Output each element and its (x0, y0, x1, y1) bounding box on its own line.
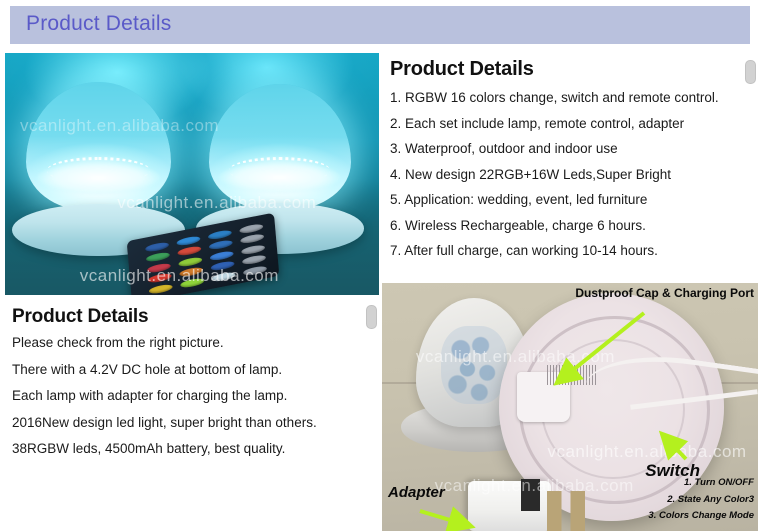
remote-button-6 (209, 239, 233, 251)
description-line: Please check from the right picture. (12, 336, 363, 350)
remote-button-8 (147, 262, 171, 274)
feature-line: 7. After full charge, can working 10-14 … (390, 244, 740, 258)
remote-button-0 (145, 241, 169, 253)
feature-line: 2. Each set include lamp, remote control… (390, 117, 740, 131)
product-details-page: Product Details vcanlight.en.alibaba.com… (0, 0, 758, 531)
left-panel-scrollbar-thumb[interactable] (366, 305, 377, 329)
right-panel-content: Product Details 1. RGBW 16 colors change… (382, 48, 758, 278)
remote-button-16 (149, 283, 173, 295)
remote-button-19 (243, 265, 267, 277)
adapter-prongs (547, 491, 585, 531)
feature-line: 1. RGBW 16 colors change, switch and rem… (390, 91, 740, 105)
feature-line: 5. Application: wedding, event, led furn… (390, 193, 740, 207)
remote-button-17 (180, 277, 204, 289)
remote-button-1 (177, 235, 201, 247)
lamp-glow-band (37, 162, 161, 193)
annotation-dustproof-cap: Dustproof Cap & Charging Port (575, 286, 754, 300)
switch-step: 3. Colors Change Mode (648, 508, 754, 525)
feature-line: 4. New design 22RGB+16W Leds,Super Brigh… (390, 168, 740, 182)
right-panel-scrollbar-thumb[interactable] (745, 60, 756, 84)
led-cluster (441, 326, 506, 403)
feature-line: 6. Wireless Rechargeable, charge 6 hours… (390, 219, 740, 233)
product-photo-base-annotated[interactable]: vcanlight.en.alibaba.com vcanlight.en.al… (382, 283, 758, 531)
description-line: There with a 4.2V DC hole at bottom of l… (12, 363, 363, 377)
description-line: 38RGBW leds, 4500mAh battery, best quali… (12, 442, 363, 456)
description-line: Each lamp with adapter for charging the … (12, 389, 363, 403)
remote-button-13 (179, 267, 203, 279)
page-title: Product Details (26, 12, 171, 36)
lamp-glow-band (219, 162, 340, 192)
left-panel-content: Product Details Please check from the ri… (5, 296, 379, 477)
description-line: 2016New design led light, super bright t… (12, 416, 363, 430)
remote-button-14 (211, 260, 235, 272)
switch-step: 2. State Any Color3 (648, 492, 754, 509)
lamp-left (12, 82, 184, 256)
product-photo-lamps[interactable]: vcanlight.en.alibaba.com vcanlight.en.al… (5, 53, 379, 295)
product-details-right-panel: Product Details 1. RGBW 16 colors change… (382, 48, 758, 283)
annotation-adapter: Adapter (388, 484, 445, 501)
remote-button-18 (212, 271, 236, 283)
right-panel-heading: Product Details (390, 58, 740, 81)
feature-line: 3. Waterproof, outdoor and indoor use (390, 142, 740, 156)
annotation-switch-steps: 1. Turn ON/OFF 2. State Any Color3 3. Co… (648, 475, 754, 525)
remote-button-7 (240, 233, 264, 245)
remote-button-11 (241, 244, 265, 256)
remote-button-10 (210, 250, 234, 262)
left-panel-heading: Product Details (12, 306, 363, 328)
product-details-left-panel: Product Details Please check from the ri… (5, 296, 379, 531)
remote-button-2 (208, 229, 232, 241)
adapter-collar (521, 479, 540, 511)
photo-background: vcanlight.en.alibaba.com vcanlight.en.al… (5, 53, 379, 295)
remote-button-5 (178, 245, 202, 257)
switch-step: 1. Turn ON/OFF (648, 475, 754, 492)
remote-button-9 (179, 256, 203, 268)
remote-button-12 (148, 273, 172, 285)
remote-button-3 (240, 223, 264, 235)
remote-button-4 (146, 252, 170, 264)
remote-button-15 (242, 254, 266, 266)
